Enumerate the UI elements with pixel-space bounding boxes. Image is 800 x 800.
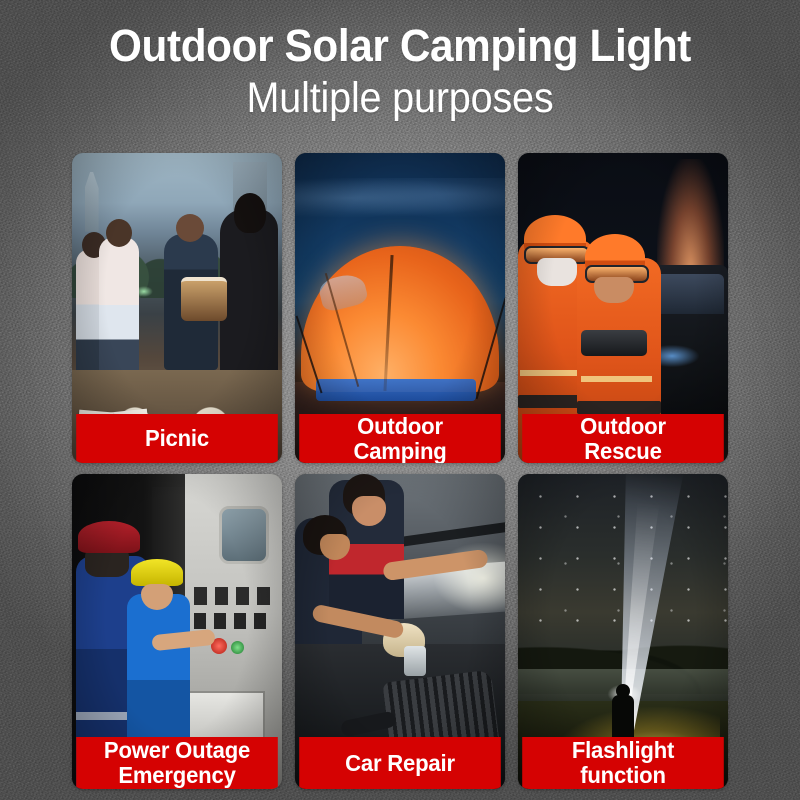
use-case-card-outdoor-camping[interactable]: Outdoor Camping <box>295 153 505 463</box>
skyline-tower-shape <box>85 172 99 232</box>
use-case-card-flashlight-function[interactable]: Flashlight function <box>518 474 728 789</box>
caption-car-repair: Car Repair <box>299 737 501 789</box>
panel-switch-row-a <box>194 587 274 605</box>
use-case-grid: Picnic Outdoor Camping <box>72 153 728 789</box>
dome-tent-shape <box>301 246 498 392</box>
use-case-card-car-repair[interactable]: Car Repair <box>295 474 505 789</box>
product-feature-poster: Outdoor Solar Camping Light Multiple pur… <box>0 0 800 800</box>
coolant-bottle-shape <box>404 646 426 676</box>
caption-power-outage-emergency: Power Outage Emergency <box>76 737 278 789</box>
handheld-device-shape <box>581 330 647 356</box>
panel-gauge <box>219 506 269 564</box>
tent-base-shape <box>316 379 476 401</box>
reflective-stripe-right <box>581 376 652 382</box>
face-mask-left <box>537 258 577 286</box>
use-case-card-power-outage-emergency[interactable]: Power Outage Emergency <box>72 474 282 789</box>
caption-outdoor-camping: Outdoor Camping <box>299 414 501 463</box>
reflective-stripe-left <box>520 370 583 376</box>
caption-picnic: Picnic <box>76 414 278 463</box>
person-standing-left-b <box>99 237 139 392</box>
face-right <box>594 277 634 303</box>
panel-switch-row-b <box>194 613 274 629</box>
dusk-cloud-band <box>295 178 505 218</box>
use-case-card-outdoor-rescue[interactable]: Outdoor Rescue <box>518 153 728 463</box>
use-case-card-picnic[interactable]: Picnic <box>72 153 282 463</box>
wooden-basket-shape <box>181 277 227 321</box>
person-standing-right <box>220 209 278 389</box>
caption-flashlight-function: Flashlight function <box>522 737 724 789</box>
caption-outdoor-rescue: Outdoor Rescue <box>522 414 724 463</box>
poster-subtitle: Multiple purposes <box>32 76 768 121</box>
poster-title: Outdoor Solar Camping Light <box>24 22 776 69</box>
yellow-hard-hat <box>131 559 183 586</box>
red-hard-hat <box>78 521 140 553</box>
